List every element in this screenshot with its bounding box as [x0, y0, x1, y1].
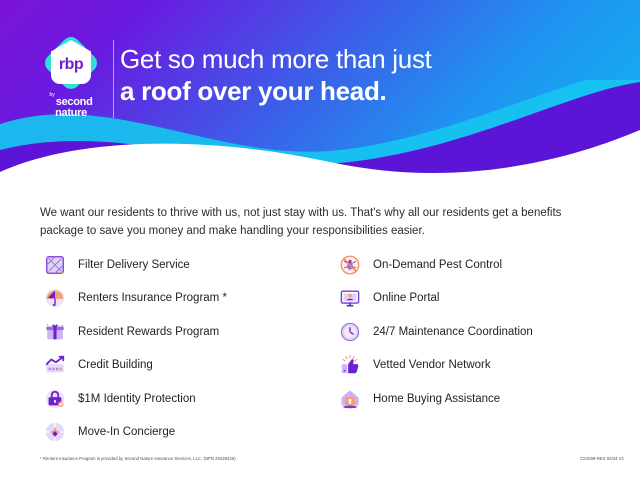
- benefit-label: Online Portal: [373, 292, 439, 304]
- logo-headline-divider: [113, 40, 114, 118]
- hero-headline: Get so much more than just a roof over y…: [120, 44, 432, 107]
- benefit-item-resident-rewards-program: Resident Rewards Program: [40, 315, 335, 349]
- monitor-icon: [335, 285, 365, 311]
- thumbs-up-icon: [335, 352, 365, 378]
- benefits-left-column: Filter Delivery Service Renters Insuranc…: [40, 248, 335, 449]
- benefit-item-home-buying-assistance: Home Buying Assistance: [335, 382, 600, 416]
- benefit-item-online-portal: Online Portal: [335, 282, 600, 316]
- lock-shield-icon: [40, 386, 70, 412]
- hero-banner: rbp bysecond nature Get so much more tha…: [0, 0, 640, 180]
- logo-by-label: by: [50, 93, 55, 98]
- benefit-label: Filter Delivery Service: [78, 259, 190, 271]
- benefits-right-column: On-Demand Pest Control Online Portal: [335, 248, 600, 449]
- benefit-label: Move-In Concierge: [78, 426, 175, 438]
- benefit-label: Home Buying Assistance: [373, 393, 500, 405]
- logo-wordmark: rbp: [59, 57, 83, 73]
- benefit-item-credit-building: Credit Building: [40, 349, 335, 383]
- clock-icon: [335, 319, 365, 345]
- benefit-item-on-demand-pest-control: On-Demand Pest Control: [335, 248, 600, 282]
- benefit-label: On-Demand Pest Control: [373, 259, 502, 271]
- logo-mark: rbp: [41, 34, 101, 92]
- benefits-flyer-page: rbp bysecond nature Get so much more tha…: [0, 0, 640, 480]
- benefit-label: Renters Insurance Program *: [78, 292, 227, 304]
- benefit-item-move-in-concierge: Move-In Concierge: [40, 416, 335, 450]
- headline-line-1: Get so much more than just: [120, 44, 432, 76]
- benefit-item-vetted-vendor-network: Vetted Vendor Network: [335, 349, 600, 383]
- no-pest-icon: [335, 252, 365, 278]
- logo-tagline: bysecond nature: [50, 93, 93, 119]
- benefit-item-renters-insurance-program: Renters Insurance Program *: [40, 282, 335, 316]
- benefit-item-identity-protection: $1M Identity Protection: [40, 382, 335, 416]
- benefit-label: Resident Rewards Program: [78, 326, 219, 338]
- headline-line-2: a roof over your head.: [120, 76, 432, 108]
- footer-disclaimer: * Renters Insurance Program is provided …: [40, 456, 236, 461]
- benefit-label: Credit Building: [78, 359, 153, 371]
- concierge-bell-icon: [40, 419, 70, 445]
- umbrella-icon: [40, 285, 70, 311]
- benefit-label: $1M Identity Protection: [78, 393, 196, 405]
- footer-doc-code: CS1008-RES 02/24 V1: [580, 456, 624, 461]
- benefits-list: Filter Delivery Service Renters Insuranc…: [40, 248, 600, 449]
- credit-chart-icon: [40, 352, 70, 378]
- benefit-label: 24/7 Maintenance Coordination: [373, 326, 533, 338]
- benefit-item-filter-delivery-service: Filter Delivery Service: [40, 248, 335, 282]
- intro-paragraph: We want our residents to thrive with us,…: [40, 205, 592, 241]
- benefit-label: Vetted Vendor Network: [373, 359, 491, 371]
- air-filter-icon: [40, 252, 70, 278]
- gift-icon: [40, 319, 70, 345]
- house-key-icon: [335, 386, 365, 412]
- rbp-logo: rbp bysecond nature: [34, 34, 108, 120]
- benefit-item-maintenance-coordination: 24/7 Maintenance Coordination: [335, 315, 600, 349]
- logo-company-line2: nature: [50, 108, 93, 119]
